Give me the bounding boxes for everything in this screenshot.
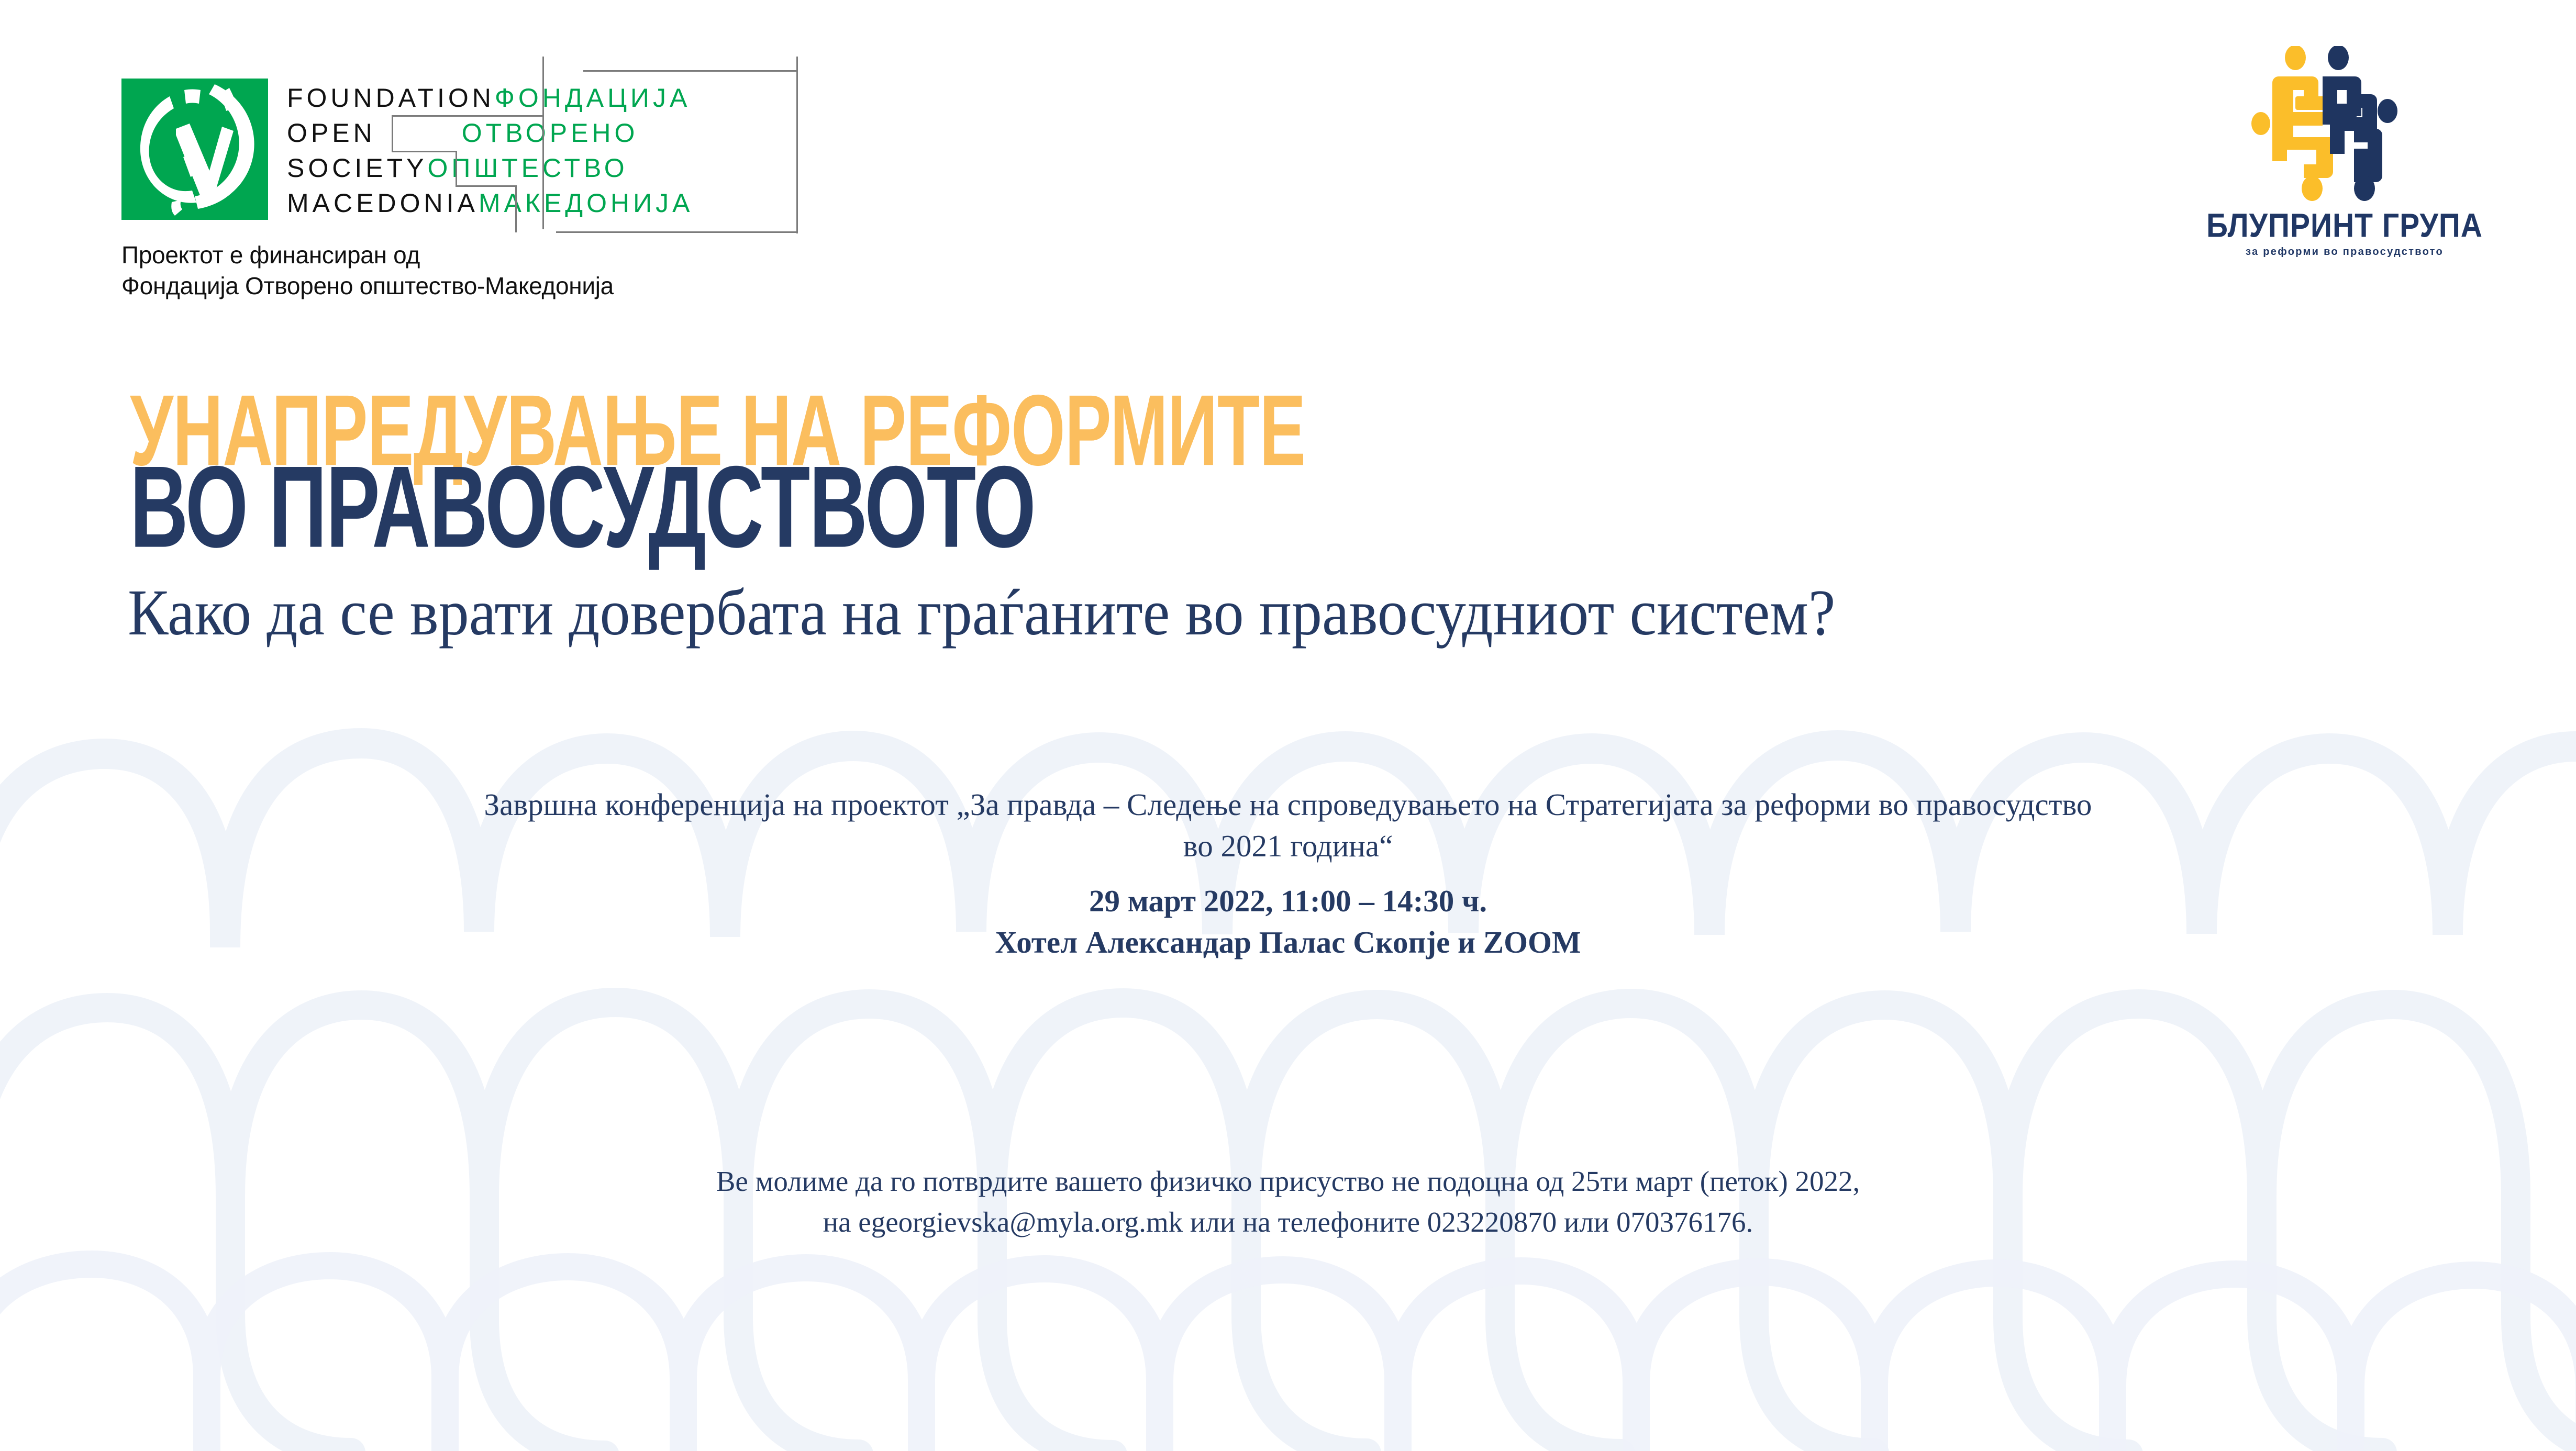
fosm-frame-step-2 bbox=[392, 115, 393, 152]
fosm-mk-open: ОТВОРЕНО bbox=[462, 116, 639, 151]
fosm-en-foundation: FOUNDATION bbox=[287, 81, 495, 116]
headline-line-2: ВО ПРАВОСУДСТВОТО bbox=[130, 457, 1331, 557]
fosm-frame-step-4 bbox=[456, 151, 457, 186]
fosm-brush-mark-icon bbox=[121, 79, 268, 220]
fosm-line-foundation: FOUNDATIONФОНДАЦИЈА bbox=[287, 81, 774, 116]
logo-row: FOUNDATIONФОНДАЦИЈА OPENОТВОРЕНО SOCIETY… bbox=[0, 0, 2576, 314]
event-description-line-2: во 2021 година“ bbox=[0, 825, 2576, 867]
headline-block: УНАПРЕДУВАЊЕ НА РЕФОРМИТЕ ВО ПРАВОСУДСТВ… bbox=[130, 387, 1436, 533]
funding-caption: Проектот е финансиран од Фондација Отвор… bbox=[121, 240, 614, 302]
fosm-en-macedonia: MACEDONIA bbox=[287, 186, 479, 221]
fosm-mk-society: ОПШТЕСТВО bbox=[427, 151, 628, 186]
event-datetime: 29 март 2022, 11:00 – 14:30 ч. bbox=[0, 880, 2576, 922]
fosm-wordmark: FOUNDATIONФОНДАЦИЈА OPENОТВОРЕНО SOCIETY… bbox=[287, 81, 774, 221]
rsvp-deadline-line: Ве молиме да го потврдите вашето физичко… bbox=[0, 1161, 2576, 1202]
fosm-line-open: OPENОТВОРЕНО bbox=[287, 116, 774, 151]
fosm-line-macedonia: MACEDONIAМАКЕДОНИЈА bbox=[287, 186, 774, 221]
fosm-frame-rule-top bbox=[583, 70, 798, 72]
blueprint-group-logo: БЛУПРИНТ ГРУПА за реформи во правосудств… bbox=[2203, 46, 2486, 266]
event-description-line-1: Завршна конференција на проектот „За пра… bbox=[0, 784, 2576, 825]
fosm-frame-step-1 bbox=[392, 115, 543, 117]
headline-subtitle: Како да се врати довербата на граѓаните … bbox=[128, 580, 1835, 645]
body-spacer bbox=[0, 867, 2576, 880]
blueprint-wordmark: БЛУПРИНТ ГРУПА за реформи во правосудств… bbox=[2203, 209, 2486, 257]
blueprint-interlocking-people-icon bbox=[2250, 46, 2439, 203]
fosm-mk-foundation: ФОНДАЦИЈА bbox=[495, 81, 691, 116]
blueprint-title: БЛУПРИНТ ГРУПА bbox=[2203, 209, 2486, 243]
fosm-frame-rule-bottom bbox=[556, 231, 798, 233]
fosm-frame-step-3 bbox=[392, 151, 457, 152]
rsvp-contact-line: на egeorgievska@myla.org.mk или на телеф… bbox=[0, 1202, 2576, 1243]
fosm-frame-rule-left-v bbox=[542, 57, 544, 229]
fosm-en-society: SOCIETY bbox=[287, 151, 427, 186]
fosm-frame-rule-right-v bbox=[796, 57, 798, 233]
fosm-en-open: OPEN bbox=[287, 116, 376, 151]
fosm-line-society: SOCIETYОПШТЕСТВО bbox=[287, 151, 774, 186]
foundation-open-society-macedonia-logo: FOUNDATIONФОНДАЦИЈА OPENОТВОРЕНО SOCIETY… bbox=[121, 66, 776, 233]
fosm-frame-step-6 bbox=[515, 185, 517, 232]
rsvp-contact-block: Ве молиме да го потврдите вашето физичко… bbox=[0, 1161, 2576, 1243]
blueprint-subtitle: за реформи во правосудството bbox=[2203, 247, 2486, 257]
event-venue: Хотел Александар Палас Скопје и ZOOM bbox=[0, 922, 2576, 963]
event-description-block: Завршна конференција на проектот „За пра… bbox=[0, 784, 2576, 963]
fosm-mk-macedonia: МАКЕДОНИЈА bbox=[479, 186, 694, 221]
fosm-frame-step-5 bbox=[456, 185, 516, 187]
